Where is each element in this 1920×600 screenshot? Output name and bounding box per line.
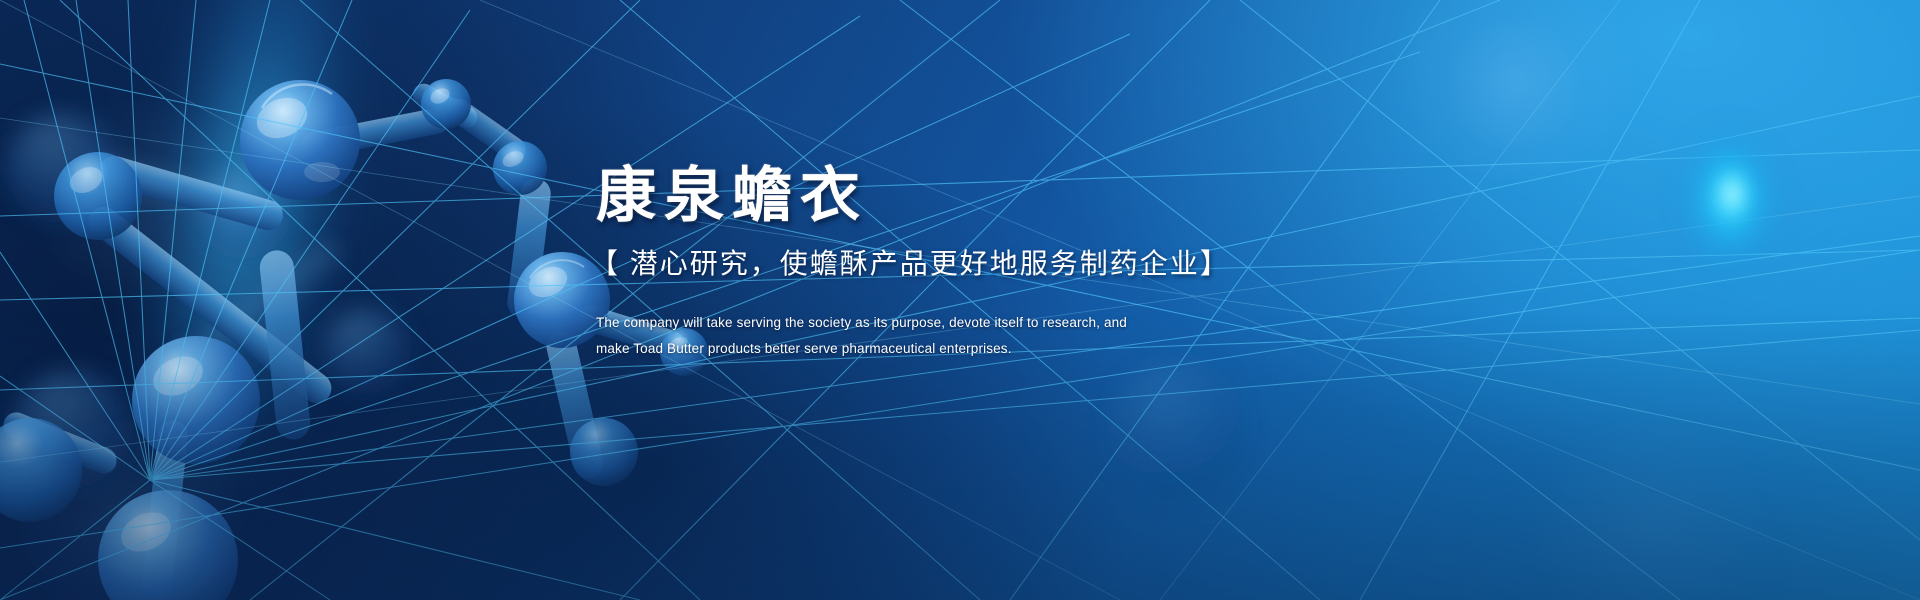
cyan-glow-core-icon	[1714, 168, 1750, 220]
banner-text-block: 康泉蟾衣 【 潜心研究，使蟾酥产品更好地服务制药企业】 The company …	[596, 160, 1496, 362]
banner-title: 康泉蟾衣	[596, 160, 1496, 232]
description-line-1: The company will take serving the societ…	[596, 310, 1496, 336]
hero-banner: 康泉蟾衣 【 潜心研究，使蟾酥产品更好地服务制药企业】 The company …	[0, 0, 1920, 600]
description-line-2: make Toad Butter products better serve p…	[596, 336, 1496, 362]
banner-subtitle: 【 潜心研究，使蟾酥产品更好地服务制药企业】	[590, 244, 1496, 284]
banner-description: The company will take serving the societ…	[596, 310, 1496, 362]
